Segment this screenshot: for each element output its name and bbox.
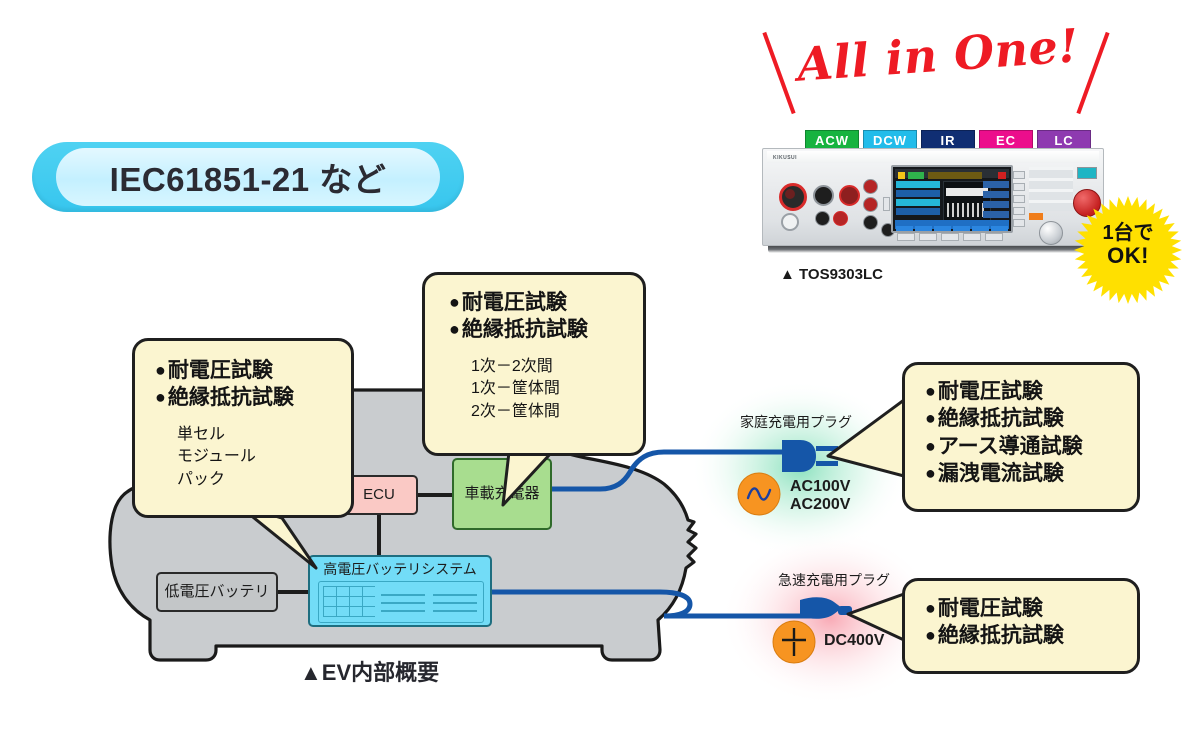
callout-charger-tests: 耐電圧試験 絶縁抵抗試験 1次－2次間 1次－筐体間 2次－筐体間: [422, 272, 646, 456]
callout-dc-bullet-1: 耐電圧試験: [925, 595, 1137, 622]
callout-ac-bullet-2: 絶縁抵抗試験: [925, 405, 1137, 432]
callout-charger-bullet-2: 絶縁抵抗試験: [449, 316, 643, 343]
callout-charger-note-1: 1次－2次間: [471, 356, 643, 379]
callout-dc-bullets: 耐電圧試験 絶縁抵抗試験: [925, 595, 1137, 650]
ac-sine-symbol-icon: [738, 473, 780, 515]
callout-charger-note-3: 2次－筐体間: [471, 401, 643, 424]
callout-ac-bullet-3: アース導通試験: [925, 433, 1137, 460]
ac-voltage-line2: AC200V: [790, 496, 850, 514]
block-lv-battery: 低電圧バッテリ: [156, 572, 278, 612]
callout-battery-bullet-1: 耐電圧試験: [155, 357, 351, 384]
hv-battery-internal-graphic: [318, 581, 484, 623]
callout-battery-note-2: モジュール: [177, 446, 351, 469]
ac-voltage-line1: AC100V: [790, 478, 850, 496]
callout-charger-notes: 1次－2次間 1次－筐体間 2次－筐体間: [471, 356, 643, 424]
hv-module-lines-a-icon: [381, 590, 425, 612]
callout-ac-bullet-4: 漏洩電流試験: [925, 460, 1137, 487]
hv-module-lines-b-icon: [433, 590, 477, 612]
callout-charger-bullet-1: 耐電圧試験: [449, 289, 643, 316]
callout-charger-note-2: 1次－筐体間: [471, 378, 643, 401]
callout-battery-bullet-2: 絶縁抵抗試験: [155, 384, 351, 411]
callout-battery-notes: 単セル モジュール パック: [177, 424, 351, 492]
callout-battery-note-1: 単セル: [177, 424, 351, 447]
ev-diagram-caption: ▲EV内部概要: [300, 655, 439, 687]
hv-cells-icon: [323, 586, 375, 617]
callout-battery-note-3: パック: [177, 469, 351, 492]
callout-charger-bullets: 耐電圧試験 絶縁抵抗試験: [449, 289, 643, 344]
dc-symbol-icon: [773, 621, 815, 663]
callout-ac-plug-tests: 耐電圧試験 絶縁抵抗試験 アース導通試験 漏洩電流試験: [902, 362, 1140, 512]
callout-dc-plug-tests: 耐電圧試験 絶縁抵抗試験: [902, 578, 1140, 674]
callout-battery-tests: 耐電圧試験 絶縁抵抗試験 単セル モジュール パック: [132, 338, 354, 518]
poster-canvas: All in One! ACW DCW IR EC LC KIKUSUI: [0, 0, 1200, 730]
dc-plug-title: 急速充電用プラグ: [778, 570, 890, 590]
ac-voltage-label: AC100V AC200V: [790, 478, 850, 515]
callout-ac-bullets: 耐電圧試験 絶縁抵抗試験 アース導通試験 漏洩電流試験: [925, 378, 1137, 487]
block-onboard-charger: 車載充電器: [452, 458, 552, 530]
dc-voltage-label: DC400V: [824, 632, 884, 650]
callout-ac-bullet-1: 耐電圧試験: [925, 378, 1137, 405]
ac-plug-title: 家庭充電用プラグ: [740, 412, 852, 432]
callout-battery-bullets: 耐電圧試験 絶縁抵抗試験: [155, 357, 351, 412]
callout-dc-bullet-2: 絶縁抵抗試験: [925, 622, 1137, 649]
